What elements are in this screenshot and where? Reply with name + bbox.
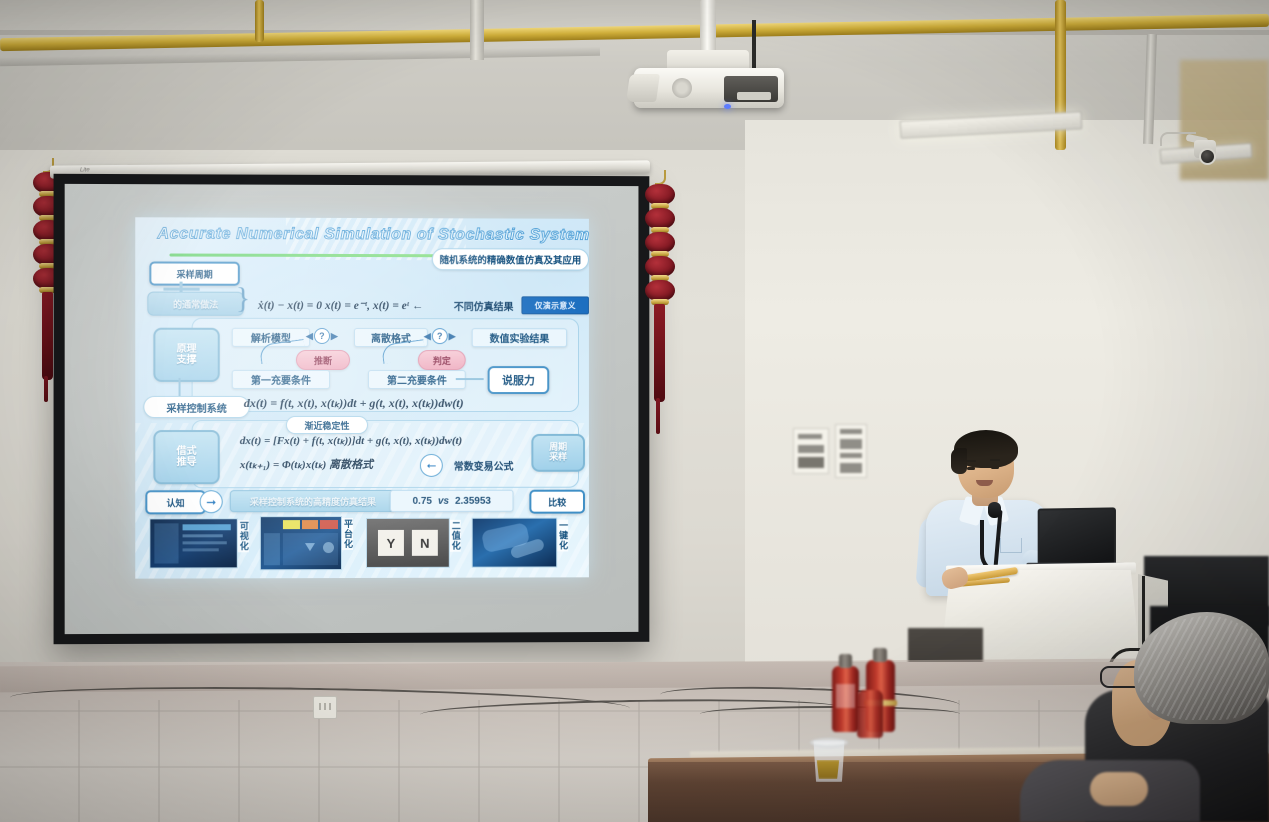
audience-hand [1090, 772, 1148, 806]
thumbnail-one-click [472, 518, 557, 568]
connector-h1 [163, 288, 199, 291]
yes-button[interactable]: Y [378, 530, 404, 556]
lantern-tassel-tip [44, 376, 48, 402]
node-sampled-control-system: 采样控制系统 [143, 396, 250, 418]
formula-sde-2: dx(t) = [Fx(t) + f(t, x(tₖ))]dt + g(t, x… [240, 434, 462, 447]
demo-only-badge: 仅演示意义 [521, 296, 588, 314]
lantern [645, 208, 675, 229]
comparison-statement: 采样控制系统的高精度仿真结果 [230, 490, 396, 512]
node-sampling-period: 采样周期 [149, 261, 239, 285]
compare-button[interactable]: 比较 [529, 490, 585, 514]
ceiling-pipe-vertical-2 [255, 0, 264, 42]
thumbnail-label-platform: 平台化 [342, 518, 353, 550]
arrow-right-icon: ▶ [331, 330, 338, 341]
thumbnail-platform [260, 516, 342, 570]
slide-title-english: Accurate Numerical Simulation of Stochas… [157, 225, 589, 244]
fire-extinguisher-neck-1 [839, 654, 852, 668]
slide-subtitle-chinese: 随机系统的精确数值仿真及其应用 [432, 248, 589, 270]
arrow-left-circle-icon: ⭠ [420, 454, 443, 477]
lantern-tassel [42, 292, 53, 380]
camera-lens-icon [1199, 148, 1216, 165]
node-formula-derivation: 借式 推导 [153, 430, 219, 484]
speaker-eyebrow-right [990, 459, 1000, 461]
speaker-hair-side [951, 448, 967, 474]
value-left: 0.75 [413, 495, 432, 506]
lantern [645, 280, 675, 301]
wall-notice-1 [793, 428, 829, 474]
arrow-left-icon: ◀ [306, 330, 313, 341]
projected-slide: Accurate Numerical Simulation of Stochas… [135, 217, 589, 578]
cup-rim [810, 738, 848, 747]
fire-extinguisher-neck-2 [873, 648, 887, 662]
arrow-right-circle-icon: ➞ [200, 490, 223, 513]
node-persuasiveness: 说服力 [488, 366, 550, 394]
speaker-eye-left [967, 467, 975, 470]
node-numeric-results: 数值实验结果 [472, 328, 567, 347]
no-button[interactable]: N [412, 530, 438, 556]
comparison-values: 0.75 vs 2.35953 [390, 490, 514, 512]
connector-h2 [456, 378, 484, 380]
node-common-practice: 的通常做法 [147, 292, 243, 316]
question-marker-1: ◀ ? ▶ [306, 328, 338, 344]
thumbnail-visualization [149, 518, 237, 568]
lantern [645, 184, 675, 205]
value-right: 2.35953 [455, 495, 491, 506]
lantern [645, 232, 675, 253]
audience-hair-texture [1138, 616, 1266, 720]
laptop-screen [1038, 507, 1116, 568]
lecture-hall-photo: Lite Accurate Numerical Simulation of St… [0, 0, 1269, 822]
derivation-line2: 推导 [177, 457, 197, 468]
arrow-right-icon: ▶ [449, 331, 456, 342]
far-right-wall-panel [1180, 60, 1269, 180]
speaker-eyebrow-left [966, 460, 976, 462]
formula-sde: dx(t) = f(t, x(t), x(tₖ))dt + g(t, x(t),… [244, 396, 464, 411]
microphone-icon [988, 502, 1001, 518]
wall-conduit-left [470, 0, 484, 60]
node-cognition: 认知 [145, 490, 205, 514]
tag-asymptotic-stability: 渐近稳定性 [286, 416, 368, 434]
thumbnail-label-binarization: 二值化 [450, 520, 461, 552]
projector-lens [626, 74, 660, 102]
thumbnail-label-visualization: 可视化 [238, 520, 249, 552]
label-variation-formula: 常数变易公式 [454, 458, 514, 473]
projector-port [737, 92, 771, 100]
wall-notice-2 [835, 424, 867, 478]
question-marker-2: ◀ ? ▶ [424, 328, 456, 344]
formula-top-note: 不同仿真结果 [454, 298, 514, 313]
formula-discrete-solution: x(tₖ₊₁) = Φ(tₖ)x(tₖ) 离散格式 [240, 456, 373, 472]
question-icon: ? [432, 328, 448, 344]
floor-cable-4 [700, 706, 960, 722]
periodic-line2: 采样 [549, 453, 567, 463]
arrow-left-icon: ◀ [424, 331, 431, 342]
screen-surface: Accurate Numerical Simulation of Stochas… [65, 184, 639, 634]
speaker-eye-right [991, 466, 999, 469]
node-periodic-sampling: 周期 采样 [531, 434, 585, 472]
fire-extinguisher-label-1 [836, 684, 855, 708]
node-first-condition: 第一充要条件 [232, 370, 330, 389]
cup-tea-liquid [816, 760, 840, 779]
derivation-line1: 借式 [177, 446, 197, 457]
node-second-condition: 第二充要条件 [368, 370, 466, 389]
formula-top: ẋ(t) − x(t) = 0 x(t) = e⁻ᵗ, x(t) = eᵗ ← [258, 298, 423, 312]
title-underline [169, 254, 461, 258]
projector-vent [672, 78, 692, 98]
lantern-tassel-tip [656, 398, 660, 434]
question-icon: ? [314, 328, 330, 344]
thumbnail-label-one-click: 一键化 [557, 520, 568, 552]
panel-derivation [192, 420, 579, 488]
roller-brand-text: Lite [80, 167, 90, 173]
principle-line1: 原理 [177, 344, 197, 355]
lantern [645, 256, 675, 277]
thumbnail-binarization: Y N [366, 518, 450, 568]
projector-status-led [724, 104, 731, 109]
node-principle-support: 原理 支撑 [153, 328, 219, 382]
projection-screen: Accurate Numerical Simulation of Stochas… [54, 174, 650, 644]
fire-extinguisher-3 [857, 690, 883, 738]
lantern-tassel [654, 304, 665, 402]
brace-icon: } [236, 282, 250, 316]
principle-line2: 支撑 [177, 355, 197, 366]
vs-label: vs [438, 495, 449, 506]
